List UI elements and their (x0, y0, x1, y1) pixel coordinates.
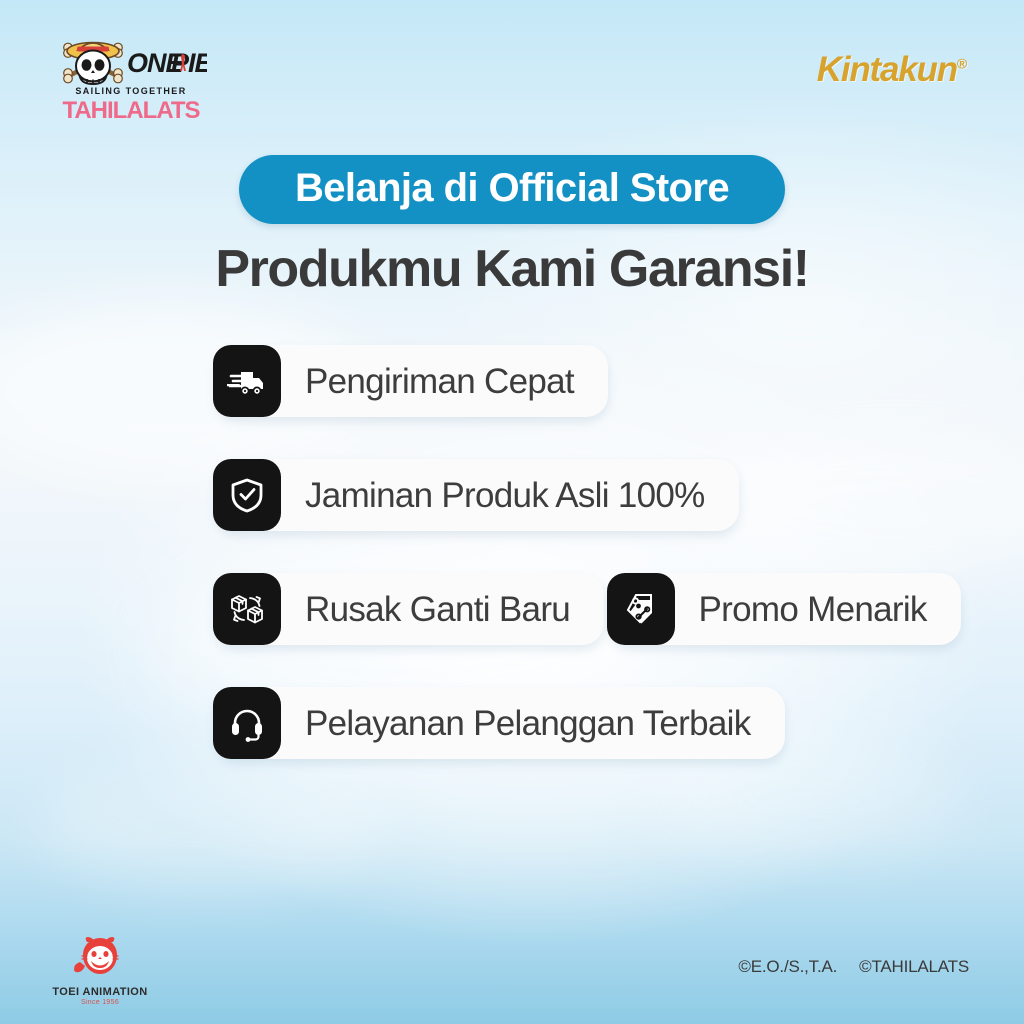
headset-icon (213, 687, 281, 759)
feature-label: Pengiriman Cepat (305, 364, 574, 399)
kintakun-wordmark: Kintakun (817, 50, 957, 89)
official-store-banner: Belanja di Official Store (239, 155, 785, 224)
feature-card-jaminan-produk-asli: Jaminan Produk Asli 100% (215, 459, 739, 531)
delivery-truck-icon (213, 345, 281, 417)
svg-text:SAILING TOGETHER: SAILING TOGETHER (75, 86, 186, 96)
kintakun-logo: Kintakun® (817, 50, 966, 90)
copyright-notice: ©E.O./S.,T.A.©TAHILALATS (738, 957, 969, 977)
feature-label: Pelayanan Pelanggan Terbaik (305, 706, 751, 741)
feature-card-pengiriman-cepat: Pengiriman Cepat (215, 345, 608, 417)
promo-poster: ONE PIEC SAILING TOGETHER TAHILALATS Kin… (0, 0, 1024, 1024)
copyright-left: ©E.O./S.,T.A. (738, 957, 837, 976)
toei-name: TOEI ANIMATION (52, 986, 148, 998)
copyright-right: ©TAHILALATS (859, 957, 969, 976)
feature-label: Jaminan Produk Asli 100% (305, 478, 705, 513)
registered-trademark-icon: ® (957, 55, 966, 71)
feature-card-promo-menarik: Promo Menarik (609, 573, 961, 645)
feature-card-rusak-ganti-baru: Rusak Ganti Baru (215, 573, 604, 645)
feature-list: Pengiriman Cepat Jaminan Produk Asli 100… (215, 345, 1024, 759)
price-tag-percent-icon (607, 573, 675, 645)
one-piece-tahilalats-logo: ONE PIEC SAILING TOGETHER TAHILALATS (55, 32, 207, 122)
svg-text:PIEC: PIEC (171, 48, 207, 78)
box-exchange-icon (213, 573, 281, 645)
page-title: Produkmu Kami Garansi! (0, 243, 1024, 295)
shield-check-icon (213, 459, 281, 531)
cloud-decoration (40, 760, 380, 890)
svg-text:TAHILALATS: TAHILALATS (62, 97, 200, 122)
toei-cat-mascot-icon (69, 936, 131, 984)
banner-label: Belanja di Official Store (295, 168, 729, 208)
toei-animation-logo: TOEI ANIMATION Since 1956 (52, 936, 148, 1006)
feature-label: Rusak Ganti Baru (305, 592, 570, 627)
one-piece-skull-straw-hat-icon: ONE PIEC SAILING TOGETHER TAHILALATS (55, 32, 207, 122)
toei-since: Since 1956 (52, 999, 148, 1006)
feature-card-pelayanan-pelanggan: Pelayanan Pelanggan Terbaik (215, 687, 785, 759)
feature-label: Promo Menarik (699, 592, 927, 627)
